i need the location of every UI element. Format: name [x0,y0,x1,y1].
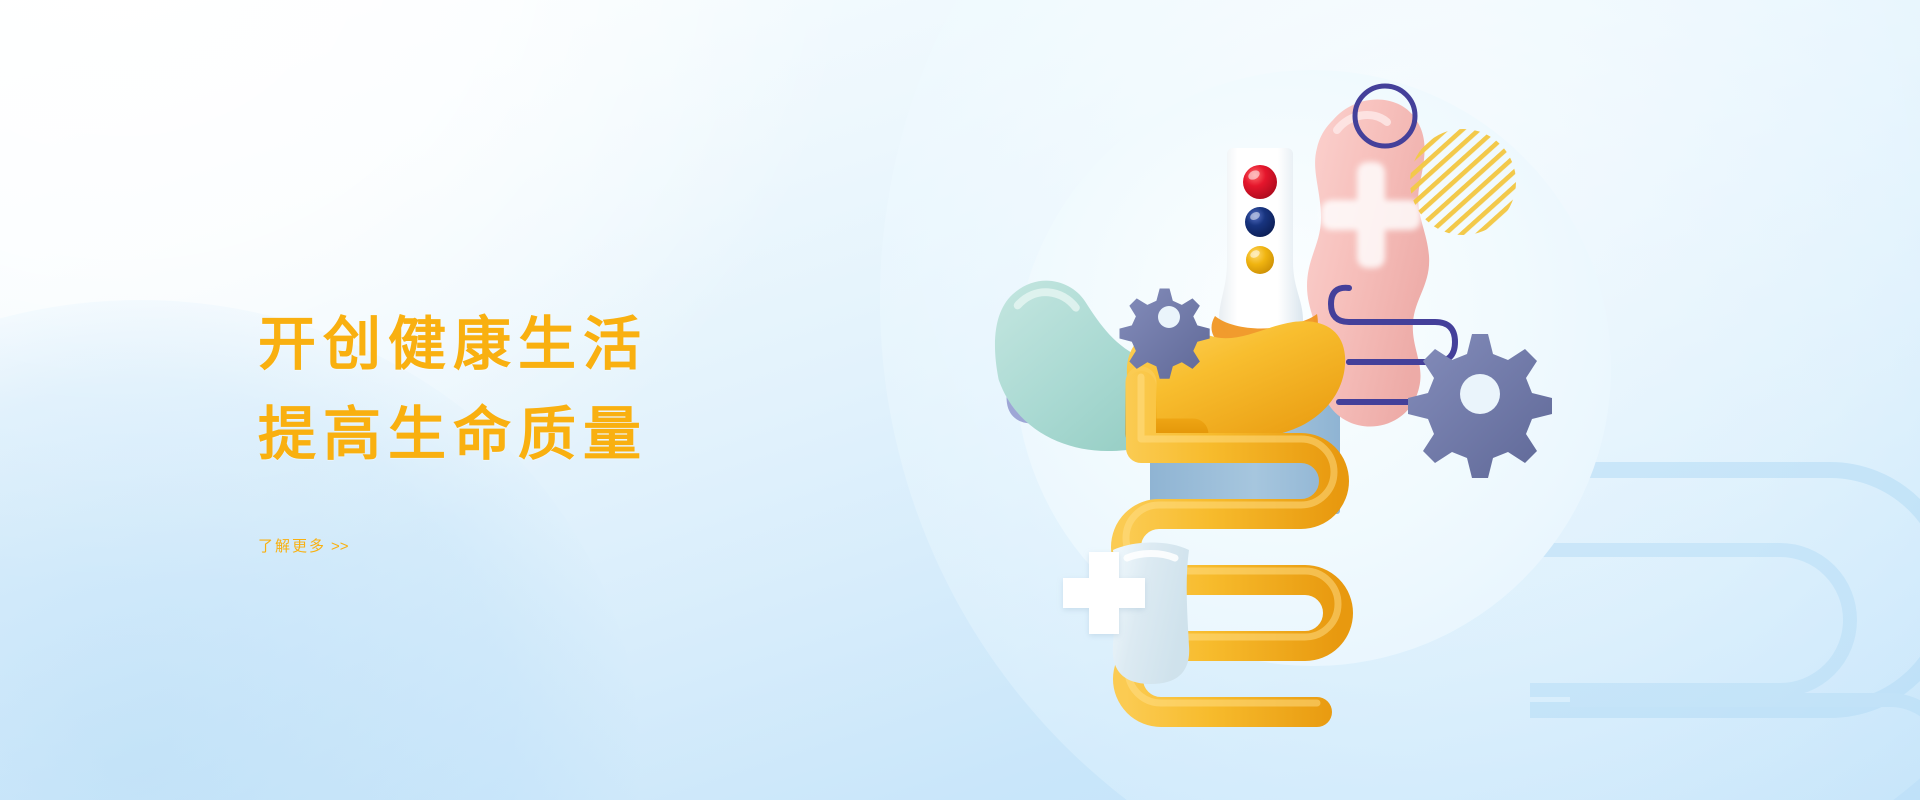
pill-gold [1246,246,1274,274]
digestive-system-illustration [945,30,1685,770]
gear-small [1120,289,1210,379]
pill-navy [1245,207,1275,237]
hero-banner: 开创健康生活 提高生命质量 了解更多>> [0,0,1920,800]
flask [1113,543,1189,685]
gear-large [1408,334,1552,478]
hero-copy: 开创健康生活 提高生命质量 了解更多>> [258,300,878,556]
chevron-right-icon: >> [331,538,349,555]
pill-red [1243,165,1277,199]
learn-more-label: 了解更多 [258,538,326,555]
learn-more-link[interactable]: 了解更多>> [258,535,349,556]
headline-line-2: 提高生命质量 [258,390,878,480]
headline-line-1: 开创健康生活 [258,300,878,390]
